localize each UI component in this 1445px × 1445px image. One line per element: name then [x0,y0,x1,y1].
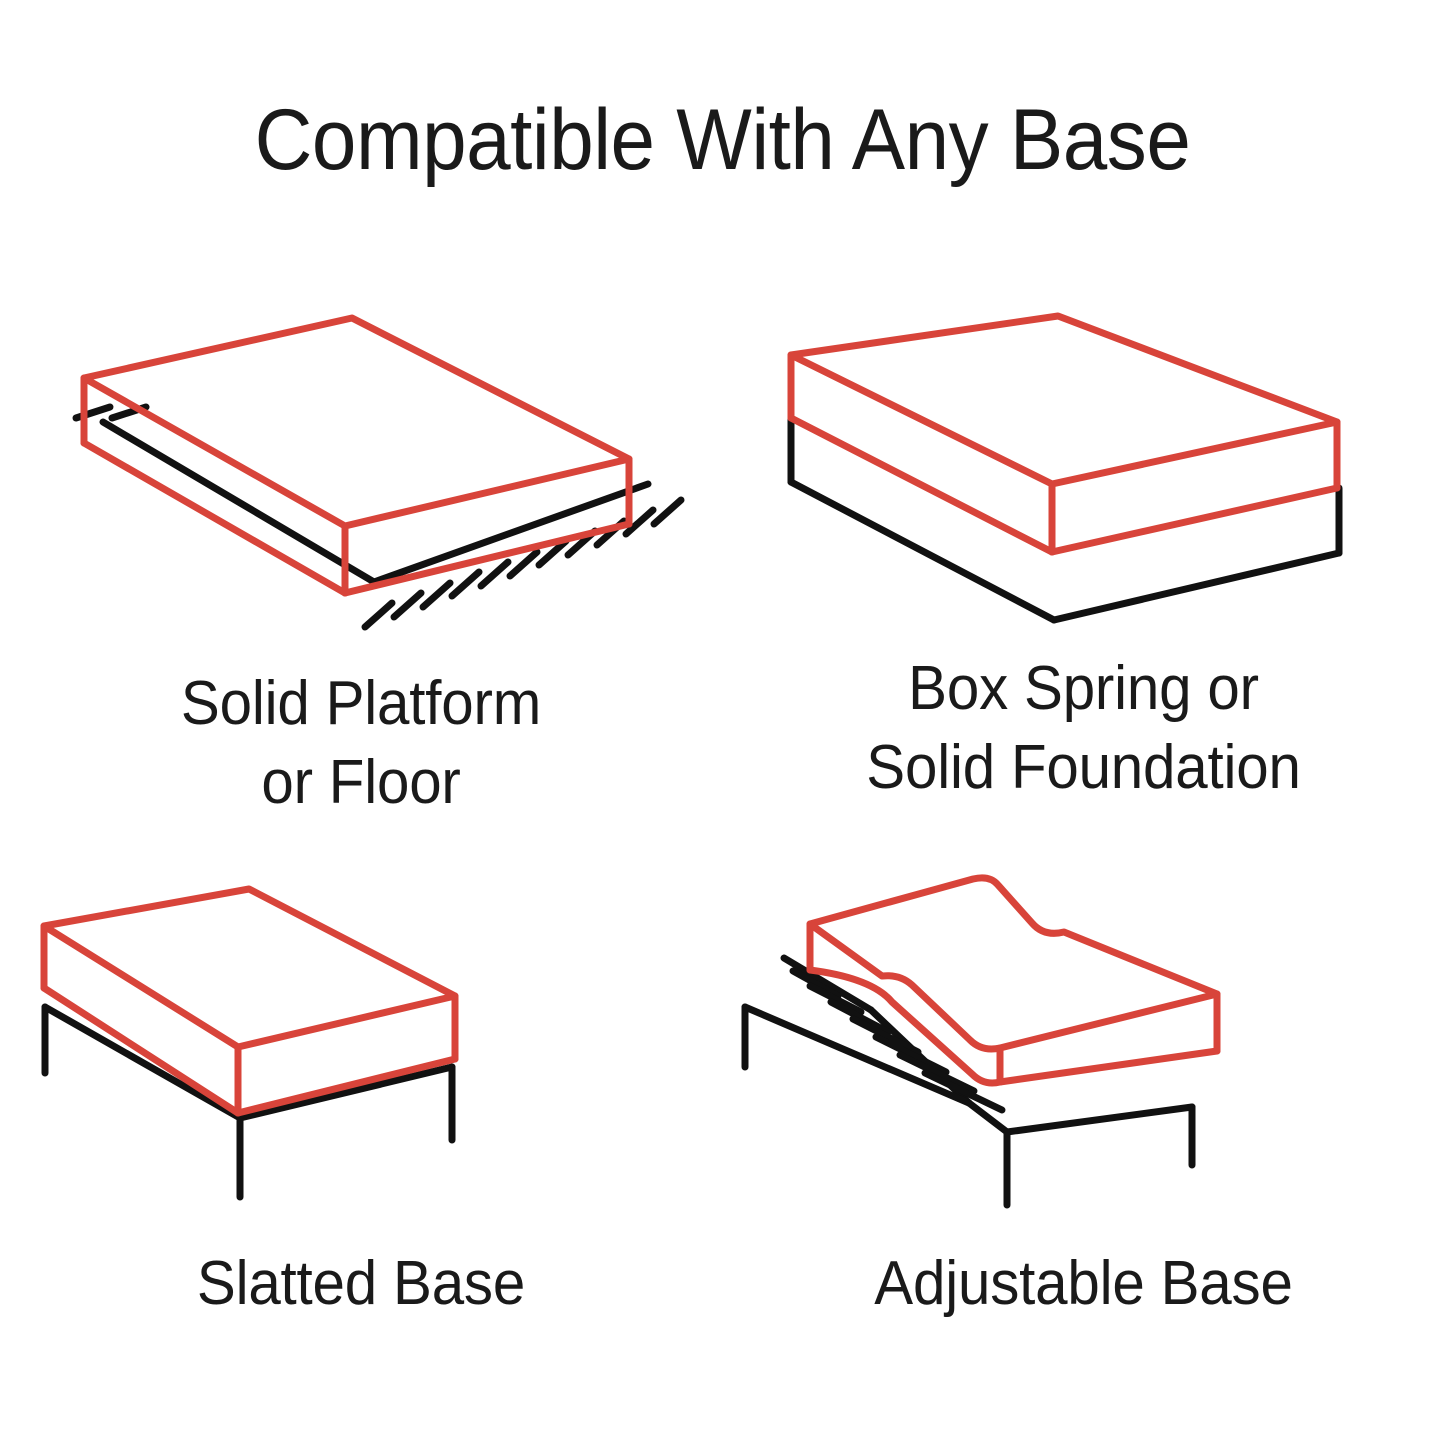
mattress-outline [791,316,1337,552]
panel-box-spring-or-solid-foundation: Box Spring or Solid Foundation [722,300,1445,860]
panel-slatted-base: Slatted Base [0,860,722,1420]
infographic-page: Compatible With Any Base [0,0,1445,1445]
mattress-on-floor-svg [0,300,722,660]
panel-adjustable-base: Adjustable Base [722,860,1445,1420]
panel-solid-platform-or-floor: Solid Platform or Floor [0,300,722,860]
mattress-on-box-spring-svg [722,300,1445,645]
mattress-outline [810,878,1217,1083]
illustration-mattress-on-box-spring [722,300,1445,645]
mattress-on-adjustable-base-svg [722,860,1445,1230]
page-title: Compatible With Any Base [51,96,1395,185]
mattress-on-slatted-base-svg [0,860,722,1230]
adjustable-base-frame [745,958,1192,1205]
box-spring-outline [791,417,1339,620]
panel-caption: Adjustable Base [744,1244,1424,1323]
panel-caption: Box Spring or Solid Foundation [744,649,1424,808]
slatted-base-frame [45,1007,452,1197]
panel-caption: Slatted Base [22,1244,701,1323]
panel-caption: Solid Platform or Floor [22,664,701,823]
illustration-mattress-on-slatted-base [0,860,722,1230]
illustration-mattress-on-floor [0,300,722,660]
illustration-mattress-on-adjustable-base [722,860,1445,1230]
base-options-grid: Solid Platform or Floor [0,300,1445,1420]
